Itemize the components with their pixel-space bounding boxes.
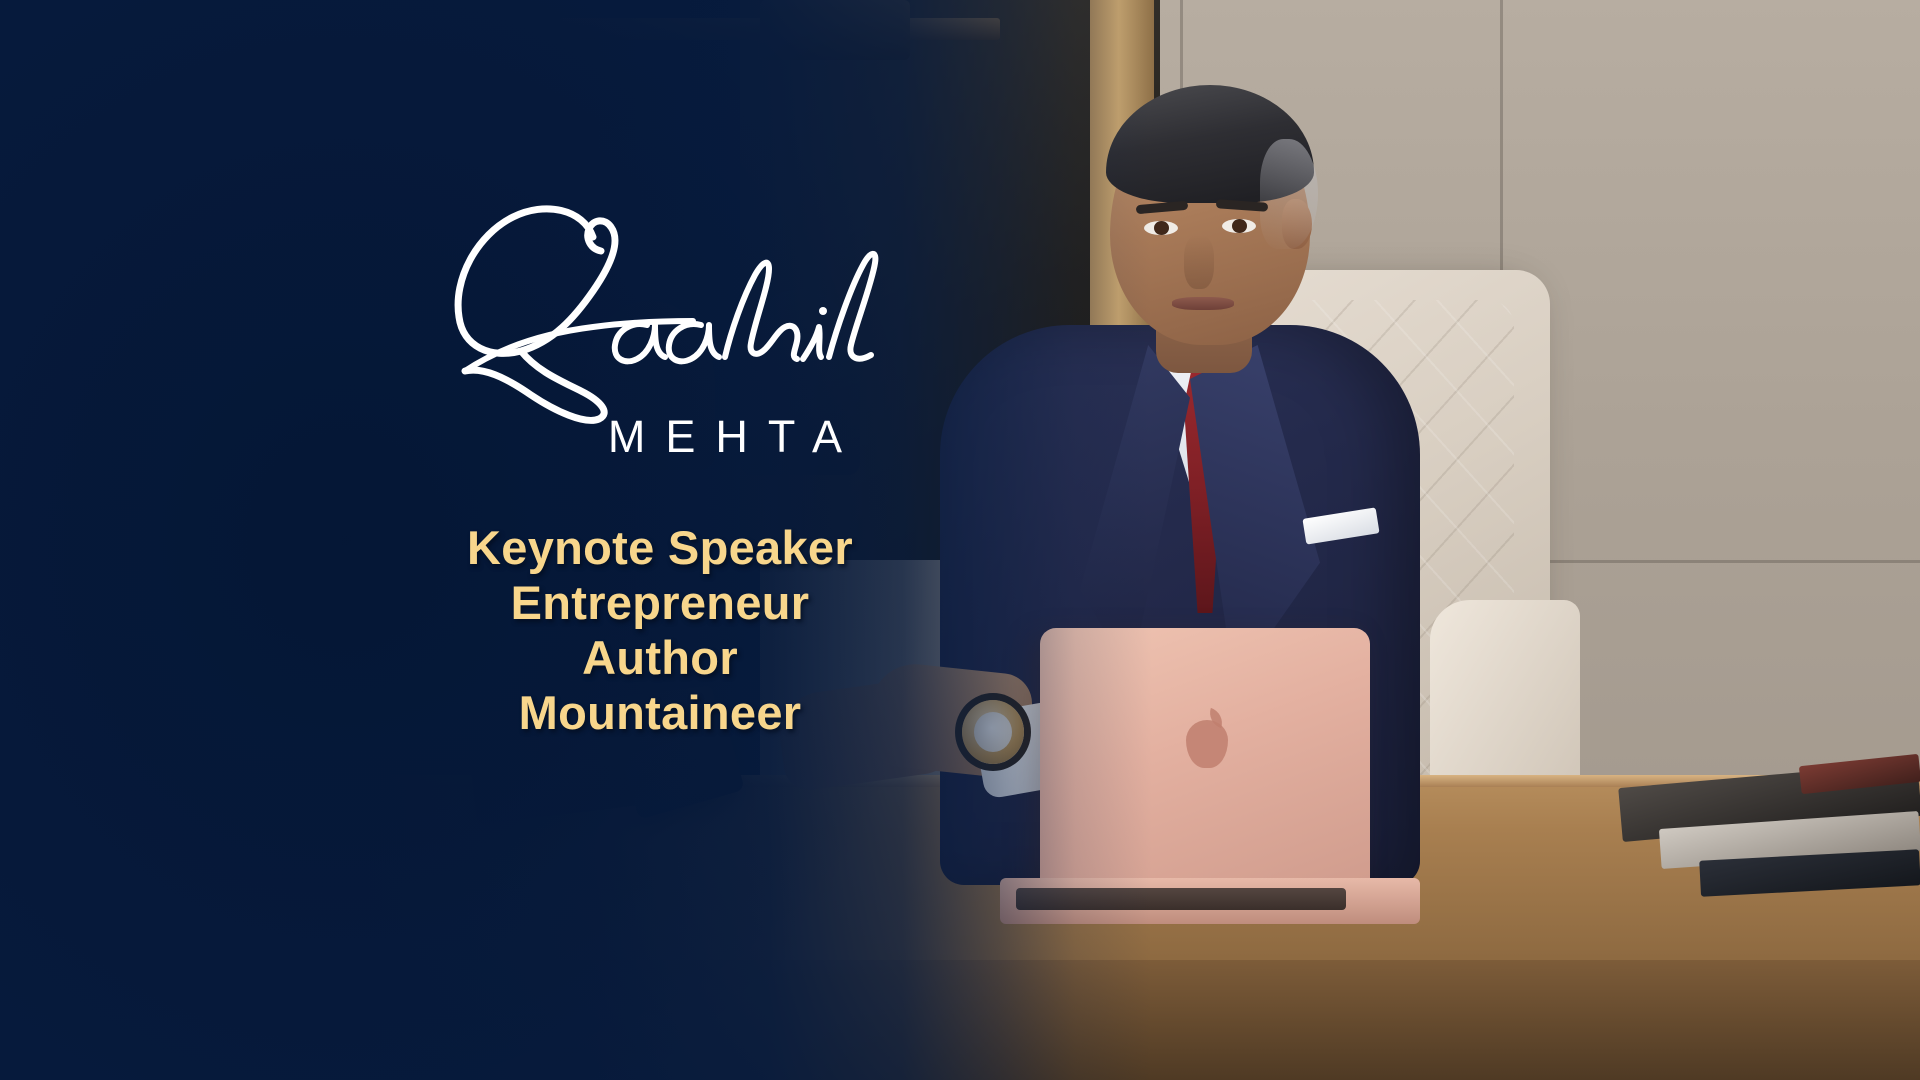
signature-script-icon [425, 175, 895, 420]
tagline-line-mountaineer: Mountaineer [330, 686, 990, 741]
hero-banner: MEHTA Keynote Speaker Entrepreneur Autho… [0, 0, 1920, 1080]
tagline-line-author: Author [330, 631, 990, 686]
tagline-line-keynote-speaker: Keynote Speaker [330, 521, 990, 576]
tagline-line-entrepreneur: Entrepreneur [330, 576, 990, 631]
brand-block: MEHTA Keynote Speaker Entrepreneur Autho… [330, 175, 990, 741]
tagline-list: Keynote Speaker Entrepreneur Author Moun… [330, 521, 990, 741]
signature-logo [330, 175, 990, 420]
brand-surname: MEHTA [330, 414, 990, 459]
